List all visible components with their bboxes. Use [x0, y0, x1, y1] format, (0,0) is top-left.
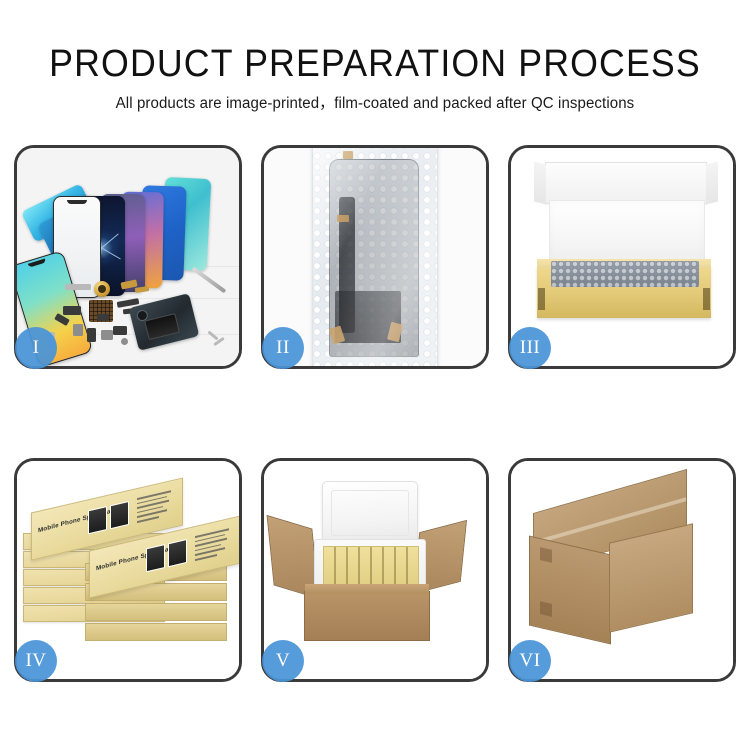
step-badge-1: I [15, 327, 57, 369]
speaker-coil-part [94, 281, 110, 297]
step-panel-6: VI [508, 458, 736, 682]
page-title: PRODUCT PREPARATION PROCESS [23, 42, 728, 86]
bubble-wrap-bag [312, 148, 438, 366]
step-panel-2: II [261, 145, 489, 369]
header: PRODUCT PREPARATION PROCESS All products… [0, 42, 750, 114]
step-badge-2: II [262, 327, 304, 369]
box-brand-label: Mobile Phone Spare Parts [38, 506, 119, 534]
kraft-box-base [537, 266, 711, 318]
step-badge-5: V [262, 640, 304, 682]
product-preparation-process-page: PRODUCT PREPARATION PROCESS All products… [0, 0, 750, 750]
step-badge-6: VI [509, 640, 551, 682]
box-lid-open [545, 162, 707, 204]
step-badge-3: III [509, 327, 551, 369]
step-badge-4: IV [15, 640, 57, 682]
step-panel-4: Mobile Phone Spare Parts Mobile Phone Sp… [14, 458, 242, 682]
packed-retail-boxes [323, 546, 419, 588]
step-panel-5: V [261, 458, 489, 682]
step-panel-1: 08:08 [14, 145, 242, 369]
process-steps-grid: 08:08 [14, 145, 736, 690]
box-brand-label-2: Mobile Phone Spare Parts [96, 544, 177, 572]
carton-base [304, 591, 430, 641]
styrofoam-lid [322, 481, 418, 545]
carton-front-face [529, 536, 611, 645]
bubble-wrap-filler [551, 261, 699, 287]
page-subtitle: All products are image-printed，film-coat… [11, 94, 739, 114]
retail-box-stack: Mobile Phone Spare Parts Mobile Phone Sp… [23, 485, 235, 665]
step-panel-3: III [508, 145, 736, 369]
